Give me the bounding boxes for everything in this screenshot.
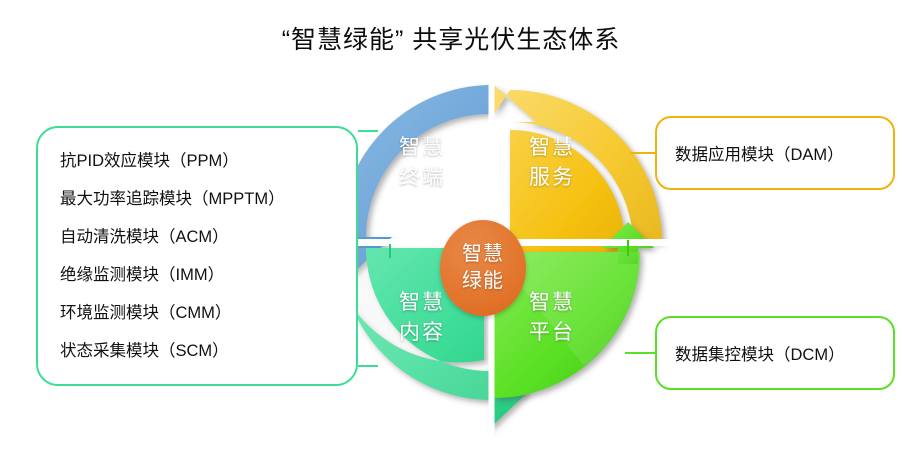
- list-item: 自动清洗模块（ACM）: [38, 218, 356, 256]
- list-item: 绝缘监测模块（IMM）: [38, 256, 356, 294]
- diagram-canvas: “智慧绿能” 共享光伏生态体系: [0, 0, 902, 459]
- callout-box-dcm: 数据集控模块（DCM）: [655, 316, 895, 390]
- callout-label-dam: 数据应用模块（DAM）: [675, 141, 844, 165]
- quadrant-label-bottom-right: 智慧 平台: [507, 288, 597, 349]
- quadrant-label-top-right: 智慧 服务: [507, 133, 597, 194]
- list-item: 环境监测模块（CMM）: [38, 294, 356, 332]
- left-module-list: 抗PID效应模块（PPM） 最大功率追踪模块（MPPTM） 自动清洗模块（ACM…: [38, 142, 356, 370]
- callout-box-dam: 数据应用模块（DAM）: [655, 116, 895, 190]
- callout-label-dcm: 数据集控模块（DCM）: [675, 341, 845, 365]
- quadrant-label-top-left: 智慧 终端: [377, 133, 467, 194]
- center-hub[interactable]: 智慧 绿能: [440, 220, 526, 316]
- left-module-list-box: 抗PID效应模块（PPM） 最大功率追踪模块（MPPTM） 自动清洗模块（ACM…: [36, 126, 358, 386]
- list-item: 最大功率追踪模块（MPPTM）: [38, 180, 356, 218]
- list-item: 抗PID效应模块（PPM）: [38, 142, 356, 180]
- center-hub-label: 智慧 绿能: [462, 241, 504, 295]
- list-item: 状态采集模块（SCM）: [38, 332, 356, 370]
